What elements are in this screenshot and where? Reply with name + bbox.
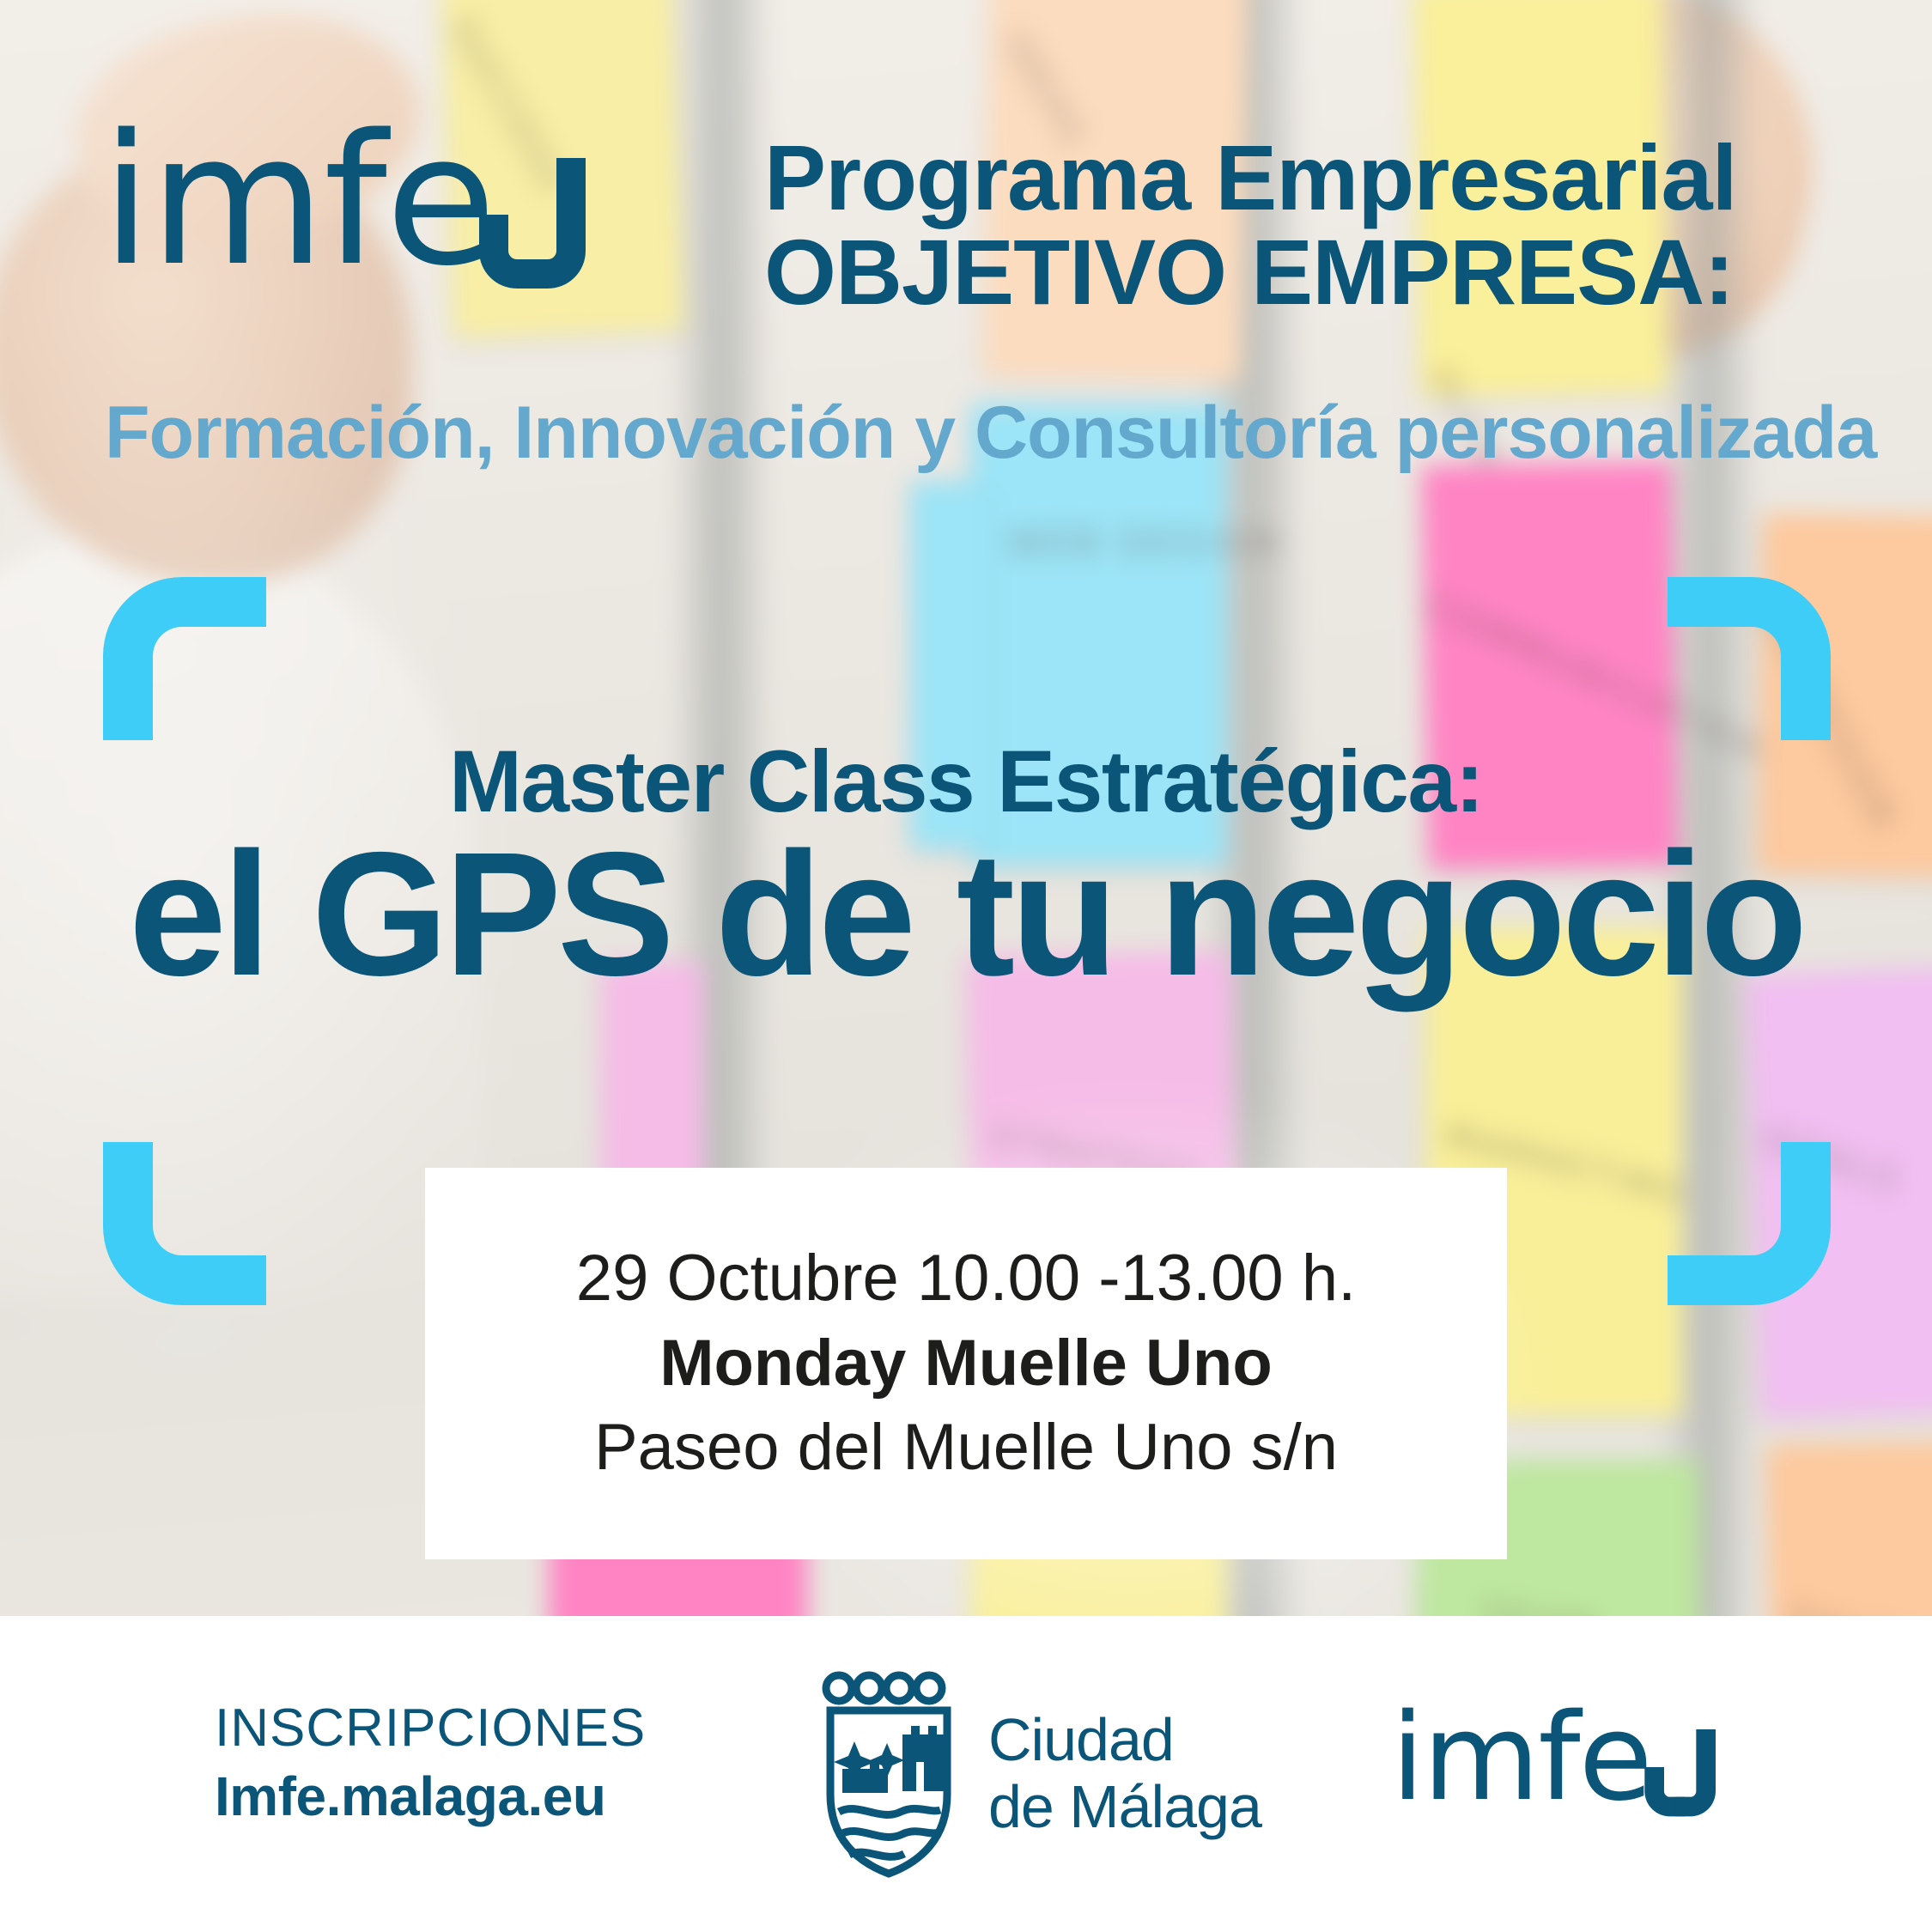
- imfe-logo-header: imfe: [101, 129, 495, 273]
- imfe-brackets-mark-icon: [471, 153, 634, 307]
- title-line-2: OBJETIVO EMPRESA:: [764, 225, 1863, 319]
- imfe-brackets-mark-icon-footer: [1638, 1726, 1748, 1829]
- page-title: Programa Empresarial OBJETIVO EMPRESA:: [764, 131, 1863, 319]
- imfe-wordmark: imfe: [101, 95, 495, 306]
- ciudad-line-2: de Málaga: [988, 1773, 1261, 1840]
- registration-label: INSCRIPCIONES: [215, 1695, 646, 1762]
- event-venue: Monday Muelle Uno: [659, 1324, 1273, 1404]
- footer-bar: INSCRIPCIONES Imfe.malaga.eu: [0, 1616, 1932, 1932]
- registration-url[interactable]: Imfe.malaga.eu: [215, 1762, 646, 1831]
- malaga-coat-of-arms-icon: [820, 1666, 957, 1880]
- event-info-box: 29 Octubre 10.00 -13.00 h. Monday Muelle…: [425, 1168, 1507, 1559]
- title-line-1: Programa Empresarial: [764, 131, 1863, 225]
- page-subtitle: Formación, Innovación y Consultoría pers…: [105, 391, 1876, 476]
- main-headline: el GPS de tu negocio: [0, 831, 1932, 999]
- imfe-logo-footer: imfe: [1391, 1710, 1651, 1807]
- registration-block: INSCRIPCIONES Imfe.malaga.eu: [215, 1695, 646, 1831]
- ciudad-de-malaga-text: Ciudad de Málaga: [988, 1706, 1261, 1841]
- imfe-wordmark-footer: imfe: [1391, 1688, 1651, 1828]
- event-address: Paseo del Muelle Uno s/n: [594, 1408, 1338, 1488]
- ciudad-line-1: Ciudad: [988, 1706, 1261, 1773]
- event-date-time: 29 Octubre 10.00 -13.00 h.: [576, 1239, 1356, 1319]
- promotional-poster: SUCCESSIDEASPLANWEB DESIGNCOMMUNICATIONA…: [0, 0, 1932, 1932]
- ciudad-de-malaga-logo: Ciudad de Málaga: [820, 1666, 1261, 1880]
